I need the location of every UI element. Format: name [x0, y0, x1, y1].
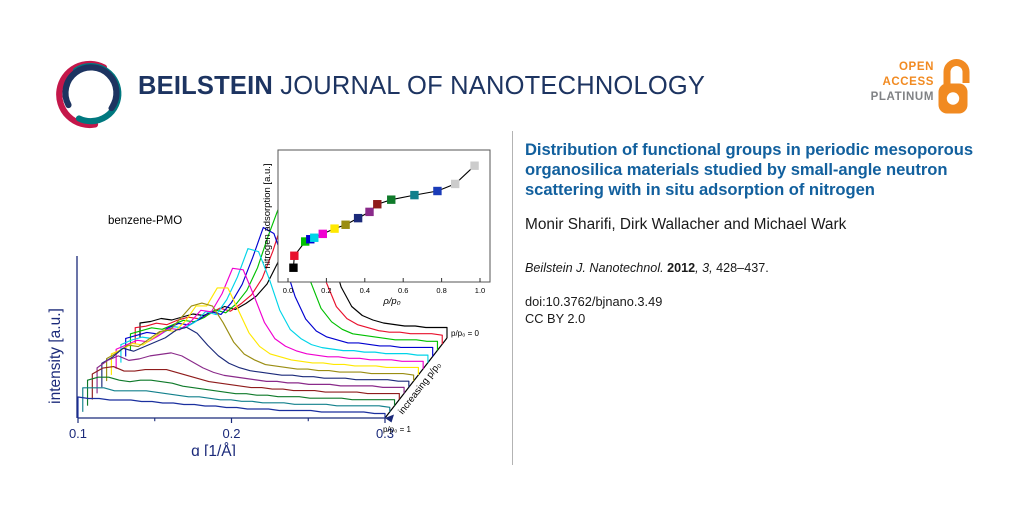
article-title: Distribution of functional groups in per… [525, 140, 985, 201]
inset-data-marker [373, 200, 381, 208]
inset-data-marker [319, 230, 327, 238]
sans-curve [88, 377, 395, 400]
journal-brand-word: BEILSTEIN [138, 72, 273, 100]
inset-data-marker [433, 187, 441, 195]
inset-data-marker [470, 162, 478, 170]
inset-frame [278, 150, 490, 282]
inset-x-tick-label: 1.0 [475, 286, 485, 295]
depth-axis-label: increasing p/p₀ [396, 360, 443, 417]
inset-data-marker [341, 221, 349, 229]
inset-data-marker [290, 252, 298, 260]
inset-data-marker [354, 214, 362, 222]
inset-x-axis-label: ρ/p₀ [382, 296, 400, 307]
article-cover-page: BEILSTEIN JOURNAL OF NANOTECHNOLOGY OPEN… [0, 0, 1024, 512]
article-citation: Beilstein J. Nanotechnol. 2012, 3, 428–4… [525, 260, 985, 276]
intensity-axis-label: intensity [a.u.] [47, 308, 64, 404]
citation-journal: Beilstein J. Nanotechnol. [525, 261, 664, 275]
article-doi[interactable]: doi:10.3762/bjnano.3.49 [525, 293, 985, 310]
journal-title: BEILSTEIN JOURNAL OF NANOTECHNOLOGY [138, 72, 705, 101]
oa-line-platinum: PLATINUM [871, 90, 934, 105]
inset-x-tick-label: 0.4 [360, 286, 370, 295]
inset-data-marker [289, 264, 297, 272]
inset-x-tick-label: 0.8 [436, 286, 446, 295]
inset-data-marker [310, 234, 318, 242]
inset-data-marker [387, 195, 395, 203]
sans-curve [111, 288, 418, 368]
q-axis-tick-label: 0.2 [222, 426, 240, 441]
citation-pages: 428–437. [716, 261, 769, 275]
q-axis-label: q [1/Å] [191, 443, 236, 456]
inset-data-marker [410, 191, 418, 199]
article-authors: Monir Sharifi, Dirk Wallacher and Michae… [525, 215, 985, 234]
journal-rest-words: JOURNAL OF NANOTECHNOLOGY [273, 72, 705, 100]
citation-year: 2012 [667, 261, 695, 275]
beilstein-spiral-logo [55, 58, 127, 130]
inset-x-tick-label: 0.6 [398, 286, 408, 295]
oa-line-open: OPEN [871, 60, 934, 75]
column-divider [512, 131, 513, 465]
inset-y-axis-label: nitrogen adsorption [a.u.] [262, 163, 273, 268]
sans-curve [83, 388, 390, 408]
sample-annotation-label: benzene-PMO [108, 215, 182, 227]
inset-data-marker [451, 180, 459, 188]
masthead: BEILSTEIN JOURNAL OF NANOTECHNOLOGY OPEN… [0, 0, 1024, 140]
article-info-panel: Distribution of functional groups in per… [525, 140, 985, 327]
inset-isotherm-plot: 0.00.20.40.60.81.0ρ/p₀nitrogen adsorptio… [262, 150, 490, 307]
article-license: CC BY 2.0 [525, 310, 985, 327]
depth-bottom-label: p/p₀ = 1 [383, 425, 412, 434]
depth-top-label: p/p₀ = 0 [451, 329, 480, 338]
open-access-text: OPEN ACCESS PLATINUM [871, 60, 934, 105]
figure-sans-waterfall: 0.10.20.3q [1/Å]intensity [a.u.]increasi… [46, 136, 506, 456]
inset-x-tick-label: 0.0 [283, 286, 293, 295]
inset-x-tick-label: 0.2 [321, 286, 331, 295]
q-axis-tick-label: 0.1 [69, 426, 87, 441]
open-access-badge: OPEN ACCESS PLATINUM [872, 58, 976, 120]
oa-line-access: ACCESS [871, 75, 934, 90]
open-lock-icon [936, 58, 976, 116]
inset-data-marker [330, 224, 338, 232]
inset-data-marker [365, 208, 373, 216]
